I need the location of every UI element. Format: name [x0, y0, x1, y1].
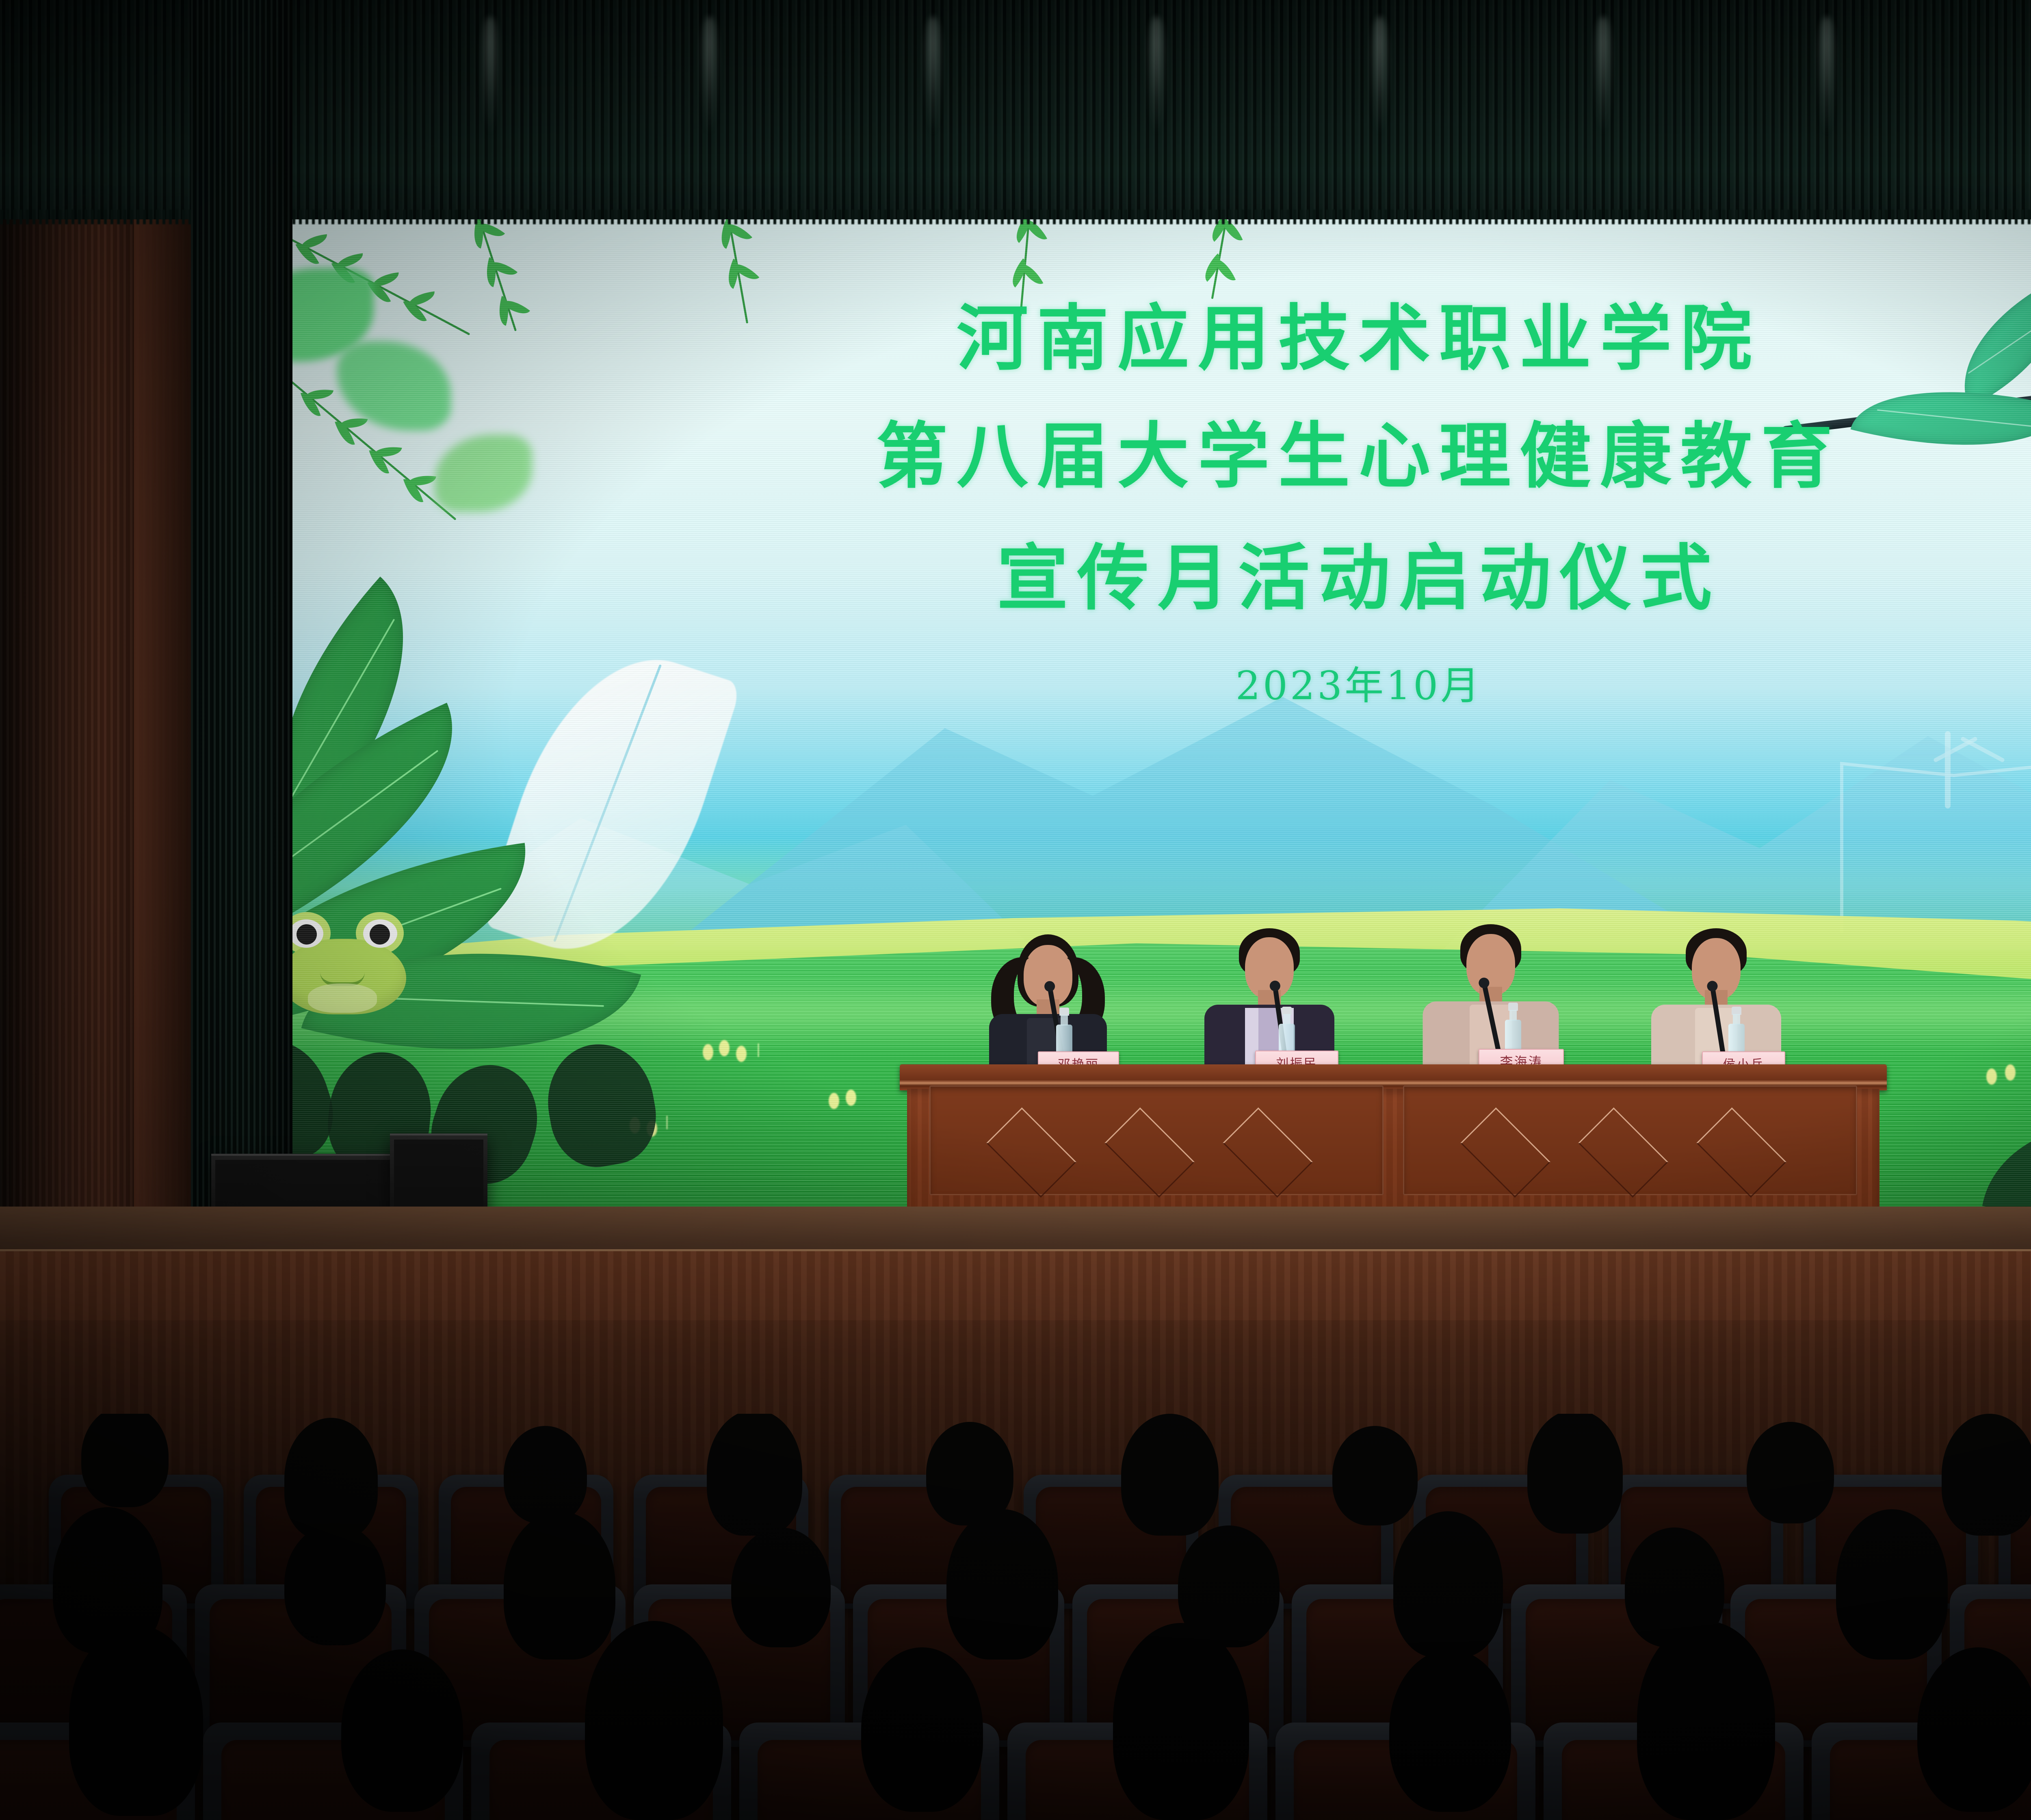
audience-head [341, 1649, 463, 1812]
stage-top-curtain [0, 0, 2031, 219]
grass-blade [758, 1043, 759, 1057]
grass-blade [666, 1116, 668, 1129]
grass-flower [736, 1046, 747, 1062]
stage-left-curtain [191, 0, 292, 1219]
audience-head [1836, 1509, 1948, 1660]
grass-flower [703, 1044, 713, 1060]
grass-flower [2005, 1064, 2016, 1081]
table-carved-panel-right [1403, 1085, 1857, 1195]
soft-leaf-blob [435, 435, 532, 512]
audience-head [731, 1527, 831, 1647]
open-book-watermark-icon [1840, 768, 2031, 938]
audience-head [1637, 1621, 1775, 1820]
audience-head [861, 1647, 983, 1812]
audience-head [504, 1511, 615, 1660]
grass-flower [1986, 1068, 1997, 1085]
audience-head [1121, 1414, 1219, 1536]
audience-head [284, 1523, 386, 1645]
cartoon-frog-icon [276, 912, 410, 1018]
audience-head [81, 1414, 169, 1507]
leafy-branch [1718, 207, 2031, 597]
audience-head [1527, 1414, 1623, 1534]
audience-head [1393, 1511, 1503, 1657]
audience-head [284, 1418, 378, 1540]
audience-head [707, 1414, 802, 1536]
audience-head [1942, 1414, 2031, 1536]
audience-head [1747, 1422, 1834, 1523]
grass-flower [719, 1040, 730, 1056]
audience-head [1113, 1623, 1249, 1820]
table-carved-panel-left [929, 1085, 1384, 1195]
audience-head [1332, 1426, 1418, 1525]
audience-head [1389, 1649, 1511, 1812]
audience-head [504, 1426, 587, 1523]
grass-flower [846, 1090, 856, 1106]
auditorium-stage-photo: 河南应用技术职业学院 第八届大学生心理健康教育 宣传月活动启动仪式 2023年1… [0, 0, 2031, 1820]
audience-head [69, 1625, 203, 1816]
audience-head [585, 1621, 723, 1820]
soft-leaf-blob [337, 341, 451, 431]
audience-head [1917, 1647, 2031, 1812]
grass-flower [829, 1093, 839, 1109]
audience-head [946, 1509, 1058, 1660]
audience-seating [0, 1414, 2031, 1820]
